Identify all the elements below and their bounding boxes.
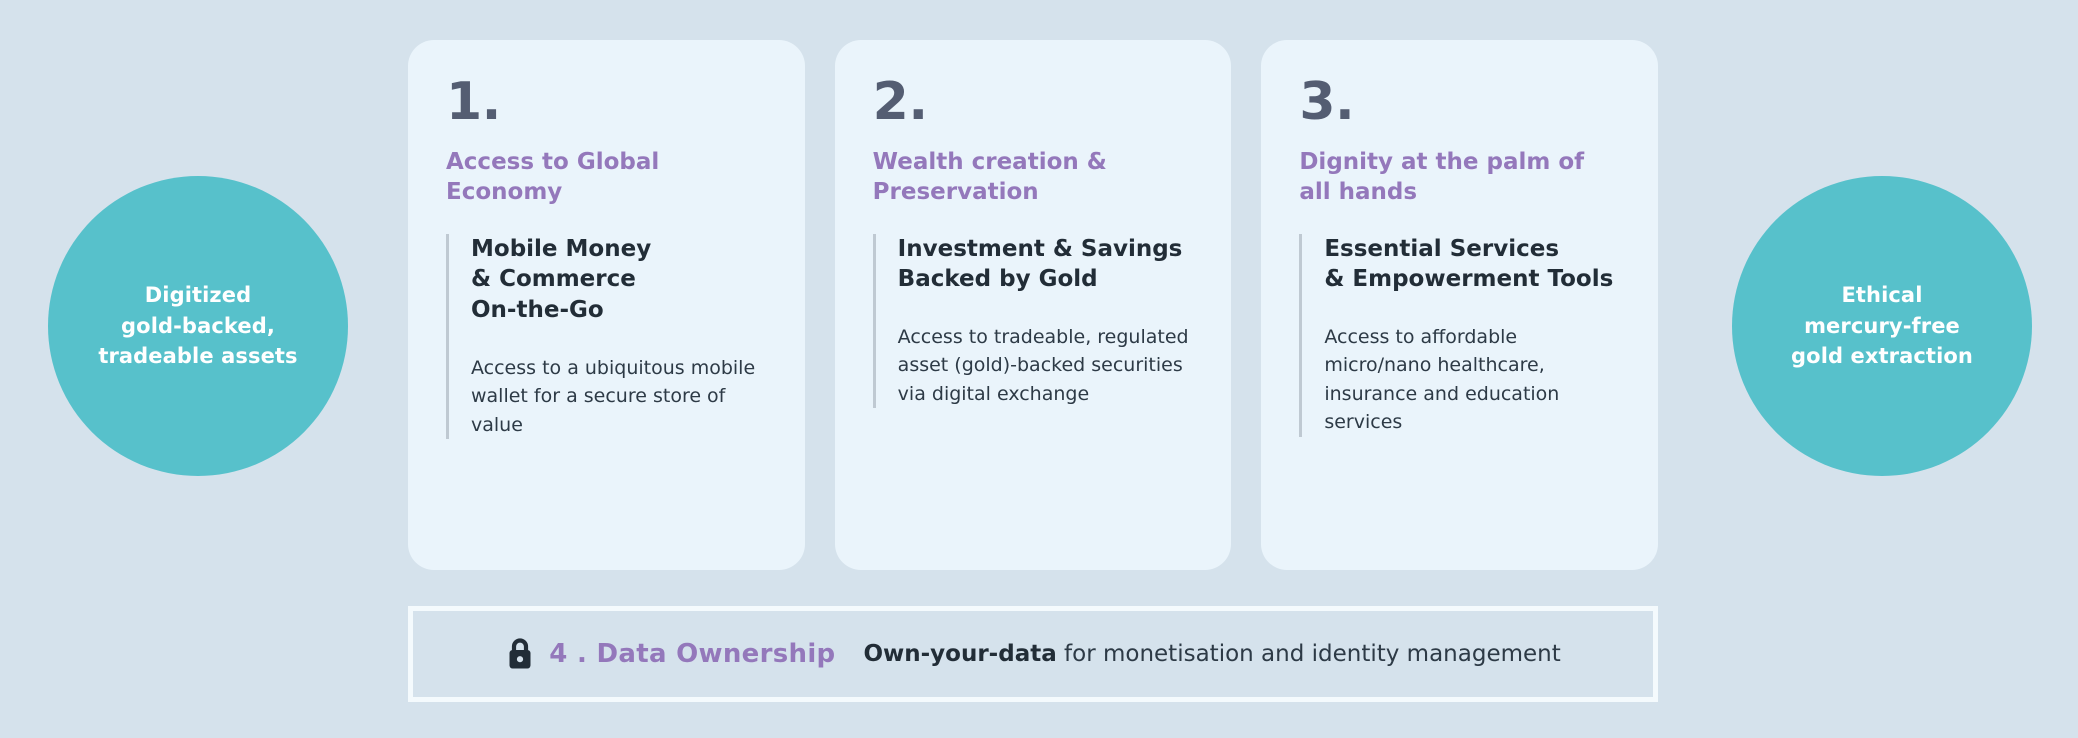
lock-icon: [505, 637, 535, 671]
left-circle-text: Digitized gold-backed, tradeable assets: [76, 280, 319, 371]
pillar-card-2[interactable]: 2. Wealth creation & Preservation Invest…: [835, 40, 1232, 570]
card-title: Dignity at the palm of all hands: [1299, 148, 1620, 208]
left-highlight-circle: Digitized gold-backed, tradeable assets: [48, 176, 348, 476]
data-ownership-text-rest: for monetisation and identity management: [1057, 641, 1561, 667]
right-circle-line-2: mercury-free: [1791, 311, 1973, 341]
left-circle-line-1: Digitized: [98, 280, 297, 310]
left-circle-line-3: tradeable assets: [98, 341, 297, 371]
pillar-card-1[interactable]: 1. Access to Global Economy Mobile Money…: [408, 40, 805, 570]
pillar-card-3[interactable]: 3. Dignity at the palm of all hands Esse…: [1261, 40, 1658, 570]
card-description: Access to affordable micro/nano healthca…: [1324, 323, 1620, 437]
pillar-cards-container: 1. Access to Global Economy Mobile Money…: [408, 40, 1658, 570]
right-highlight-circle: Ethical mercury-free gold extraction: [1732, 176, 2032, 476]
data-ownership-band[interactable]: 4 . Data Ownership Own-your-data for mon…: [408, 606, 1658, 702]
card-description: Access to tradeable, regulated asset (go…: [898, 323, 1194, 409]
card-title: Wealth creation & Preservation: [873, 148, 1194, 208]
card-body: Mobile Money & Commerce On-the-Go Access…: [446, 234, 767, 439]
card-subtitle: Mobile Money & Commerce On-the-Go: [471, 234, 767, 326]
card-number: 1.: [446, 76, 767, 128]
card-number: 2.: [873, 76, 1194, 128]
data-ownership-label: 4 . Data Ownership: [549, 639, 835, 669]
data-ownership-text: Own-your-data for monetisation and ident…: [863, 641, 1560, 667]
card-number: 3.: [1299, 76, 1620, 128]
data-ownership-text-bold: Own-your-data: [863, 641, 1056, 667]
card-body: Essential Services & Empowerment Tools A…: [1299, 234, 1620, 437]
card-subtitle: Investment & Savings Backed by Gold: [898, 234, 1194, 295]
card-subtitle: Essential Services & Empowerment Tools: [1324, 234, 1620, 295]
card-body: Investment & Savings Backed by Gold Acce…: [873, 234, 1194, 409]
left-circle-line-2: gold-backed,: [98, 311, 297, 341]
card-description: Access to a ubiquitous mobile wallet for…: [471, 354, 767, 440]
card-title: Access to Global Economy: [446, 148, 767, 208]
right-circle-text: Ethical mercury-free gold extraction: [1769, 280, 1995, 371]
right-circle-line-3: gold extraction: [1791, 341, 1973, 371]
right-circle-line-1: Ethical: [1791, 280, 1973, 310]
